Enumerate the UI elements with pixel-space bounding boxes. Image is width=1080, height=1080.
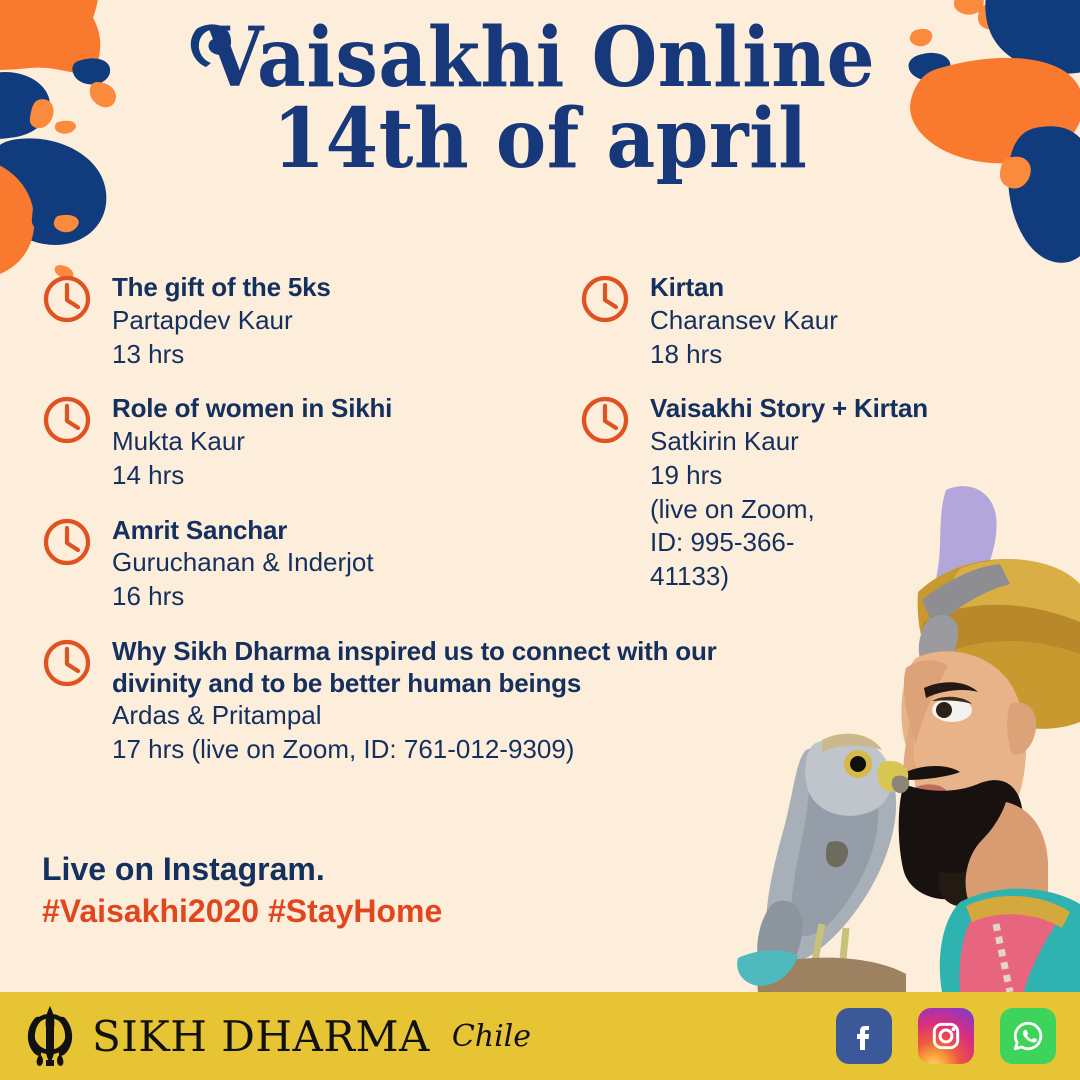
facebook-icon[interactable] [836,1008,892,1064]
event-title: Kirtan [650,272,980,304]
cta-live-text: Live on Instagram. [42,848,442,890]
clock-icon [42,517,92,567]
whatsapp-icon[interactable] [1000,1008,1056,1064]
instagram-glyph [929,1019,963,1053]
cta-block: Live on Instagram. #Vaisakhi2020 #StayHo… [42,848,442,932]
event-time: 18 hrs [650,338,980,372]
title-line-1: Vaisakhi Online [43,18,1037,98]
cta-hashtags: #Vaisakhi2020 #StayHome [42,890,442,932]
event-title: Vaisakhi Story + Kirtan [650,393,980,425]
event-time: 17 hrs (live on Zoom, ID: 761-012-9309) [112,733,762,767]
clock-icon [42,638,92,688]
blob-navy-small-2 [32,201,54,230]
whatsapp-glyph [1011,1019,1045,1053]
schedule-right-column: Kirtan Charansev Kaur 18 hrs Vaisakhi St… [580,272,980,616]
clock-icon [580,395,630,445]
event-speaker: Ardas & Pritampal [112,699,762,733]
brand-logo: Sikh Dharma Chile [22,1004,531,1068]
event-item: Vaisakhi Story + Kirtan Satkirin Kaur 19… [580,393,980,594]
event-title: Why Sikh Dharma inspired us to connect w… [112,636,752,699]
blob-orange-topright-1 [954,0,984,15]
social-links [836,1008,1056,1064]
poster-canvas: Vaisakhi Online 14th of april The gift o… [0,0,1080,1080]
clock-icon [42,395,92,445]
event-speaker: Satkirin Kaur [650,425,980,459]
brand-subname: Chile [452,1019,531,1054]
brand-name: Sikh Dharma [92,1012,430,1061]
event-item: Kirtan Charansev Kaur 18 hrs [580,272,980,371]
khanda-icon [22,1004,78,1068]
poster-title: Vaisakhi Online 14th of april [0,18,1080,182]
ear [1007,702,1036,754]
eye-pupil [936,702,952,718]
clock-icon [580,274,630,324]
falcon-eye [850,756,866,772]
blob-orange-drop-4 [54,215,79,232]
instagram-icon[interactable] [918,1008,974,1064]
facebook-glyph [848,1020,880,1052]
footer-bar: Sikh Dharma Chile [0,992,1080,1080]
blob-navy-right-drop [1015,189,1038,216]
clock-icon [42,274,92,324]
event-time: 19 hrs (live on Zoom, ID: 995-366- 41133… [650,459,980,594]
title-line-2: 14th of april [43,98,1037,182]
event-speaker: Charansev Kaur [650,304,980,338]
event-item: Why Sikh Dharma inspired us to connect w… [42,636,762,767]
